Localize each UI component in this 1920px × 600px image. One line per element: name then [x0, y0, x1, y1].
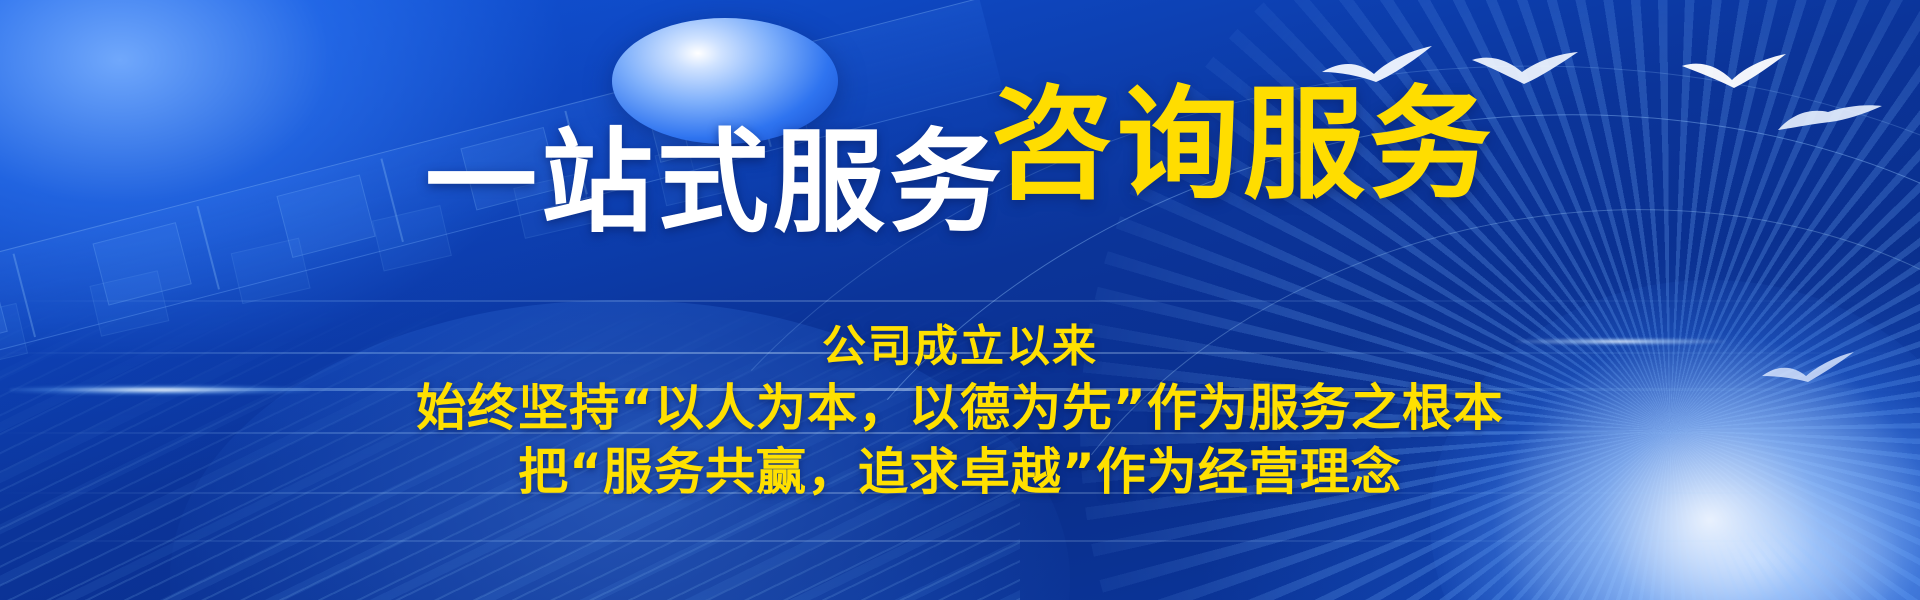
seagull-icon-3: [1680, 52, 1790, 92]
light-streak-5: [0, 540, 1920, 542]
subtitle-line-3: 把“服务共赢，追求卓越”作为经营理念: [0, 440, 1920, 504]
headline-accent-text: 咨询服务: [991, 74, 1495, 216]
headline-primary-text: 一站式服务: [425, 118, 1005, 248]
subtitle-line-1: 公司成立以来: [0, 318, 1920, 376]
promo-banner: 一站式服务咨询服务 公司成立以来 始终坚持“以人为本，以德为先”作为服务之根本 …: [0, 0, 1920, 600]
light-streak-6: [0, 300, 1920, 302]
subtitle-line-2: 始终坚持“以人为本，以德为先”作为服务之根本: [0, 376, 1920, 440]
banner-headline: 一站式服务咨询服务: [0, 88, 1920, 210]
banner-subtitle: 公司成立以来 始终坚持“以人为本，以德为先”作为服务之根本 把“服务共赢，追求卓…: [0, 318, 1920, 504]
